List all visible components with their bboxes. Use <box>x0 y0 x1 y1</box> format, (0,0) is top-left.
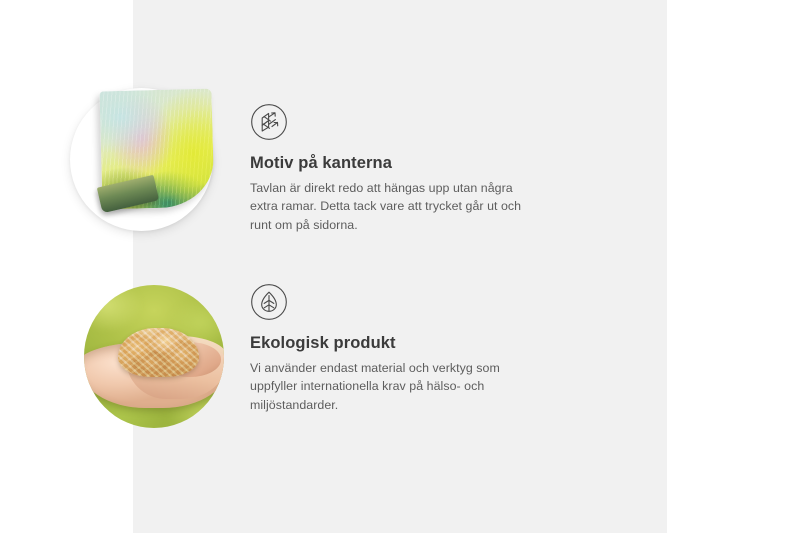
wood-chips <box>118 328 199 377</box>
feature-text-column: Motiv på kanterna Tavlan är direkt redo … <box>250 85 536 235</box>
feature-text-column: Ekologisk produkt Vi använder endast mat… <box>250 265 536 415</box>
feature-description: Vi använder endast material och verktyg … <box>250 359 536 416</box>
feature-block-canvas-edges: Motiv på kanterna Tavlan är direkt redo … <box>56 85 536 255</box>
feature-description: Tavlan är direkt redo att hängas upp uta… <box>250 179 536 236</box>
wood-chips-in-hands-photo <box>56 265 226 435</box>
canvas-print-photo <box>56 85 226 255</box>
feature-title: Motiv på kanterna <box>250 153 536 174</box>
leaf-icon <box>250 283 288 321</box>
green-circle-photo <box>84 285 224 428</box>
product-feature-panel: Motiv på kanterna Tavlan är direkt redo … <box>0 0 800 533</box>
feature-block-eco-product: Ekologisk produkt Vi använder endast mat… <box>56 265 536 435</box>
canvas-edge-print-icon <box>250 103 288 141</box>
feature-title: Ekologisk produkt <box>250 333 536 354</box>
